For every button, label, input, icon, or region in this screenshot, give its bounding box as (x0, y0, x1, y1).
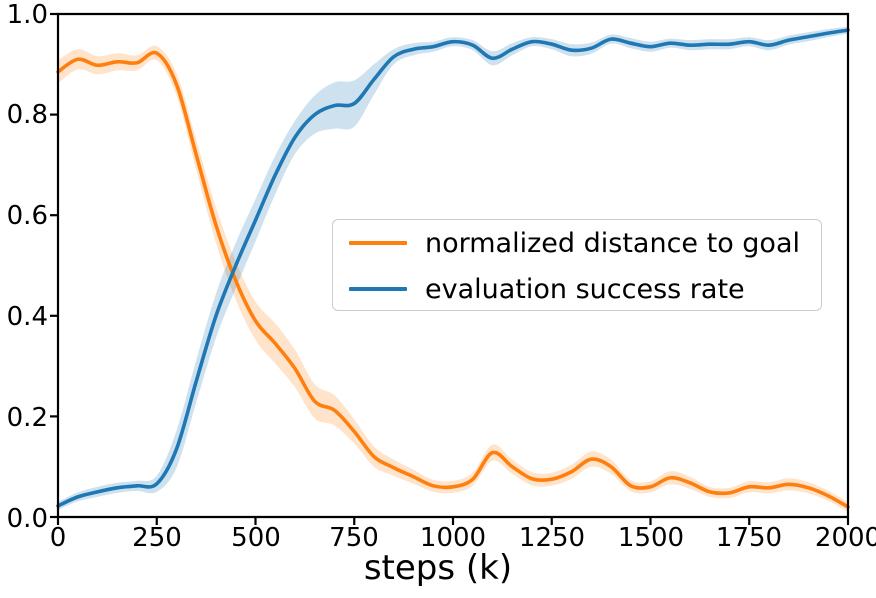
ytick-label-0_8: 0.8 (0, 100, 48, 130)
legend-swatch-blue (349, 287, 407, 291)
ytick-label-0_4: 0.4 (0, 302, 48, 332)
legend-swatch-orange (349, 241, 407, 245)
legend-label-evaluation-success-rate: evaluation success rate (425, 274, 745, 305)
chart-figure: 1.0 0.8 0.6 0.4 0.2 0.0 0 250 500 750 10… (0, 0, 876, 598)
x-axis-label: steps (k) (0, 548, 876, 588)
legend-entry-evaluation-success-rate: evaluation success rate (333, 266, 821, 312)
legend-entry-normalized-distance-to-goal: normalized distance to goal (333, 220, 821, 266)
chart-legend: normalized distance to goal evaluation s… (332, 219, 822, 311)
ytick-label-0_6: 0.6 (0, 201, 48, 231)
legend-label-normalized-distance-to-goal: normalized distance to goal (425, 228, 800, 259)
ytick-label-1_0: 1.0 (0, 0, 48, 30)
ytick-label-0_2: 0.2 (0, 403, 48, 433)
